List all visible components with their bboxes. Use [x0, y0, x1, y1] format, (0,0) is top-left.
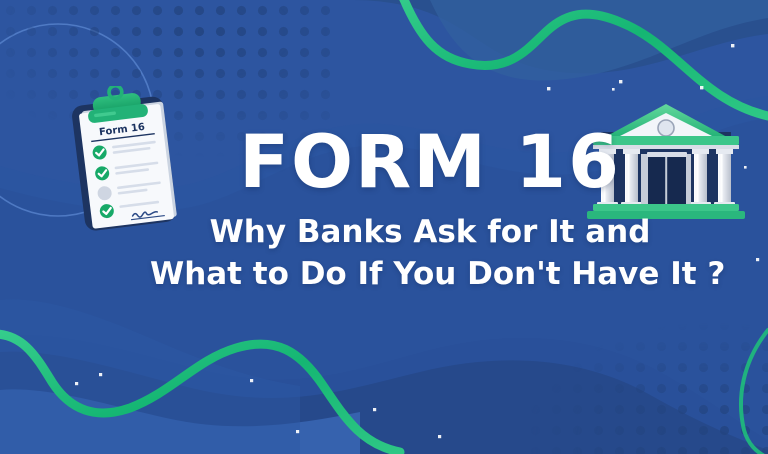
- form16-banner: Form 16: [0, 0, 768, 454]
- subtitle-line-1: Why Banks Ask for It and: [150, 212, 710, 254]
- headline-group: FORM 16 Why Banks Ask for It and What to…: [150, 128, 710, 295]
- halftone-bottom-right: [520, 300, 768, 454]
- page-subtitle: Why Banks Ask for It and What to Do If Y…: [150, 212, 710, 295]
- subtitle-line-2: What to Do If You Don't Have It ?: [150, 254, 710, 296]
- page-title: FORM 16: [150, 128, 710, 198]
- clip-ring: [108, 86, 122, 99]
